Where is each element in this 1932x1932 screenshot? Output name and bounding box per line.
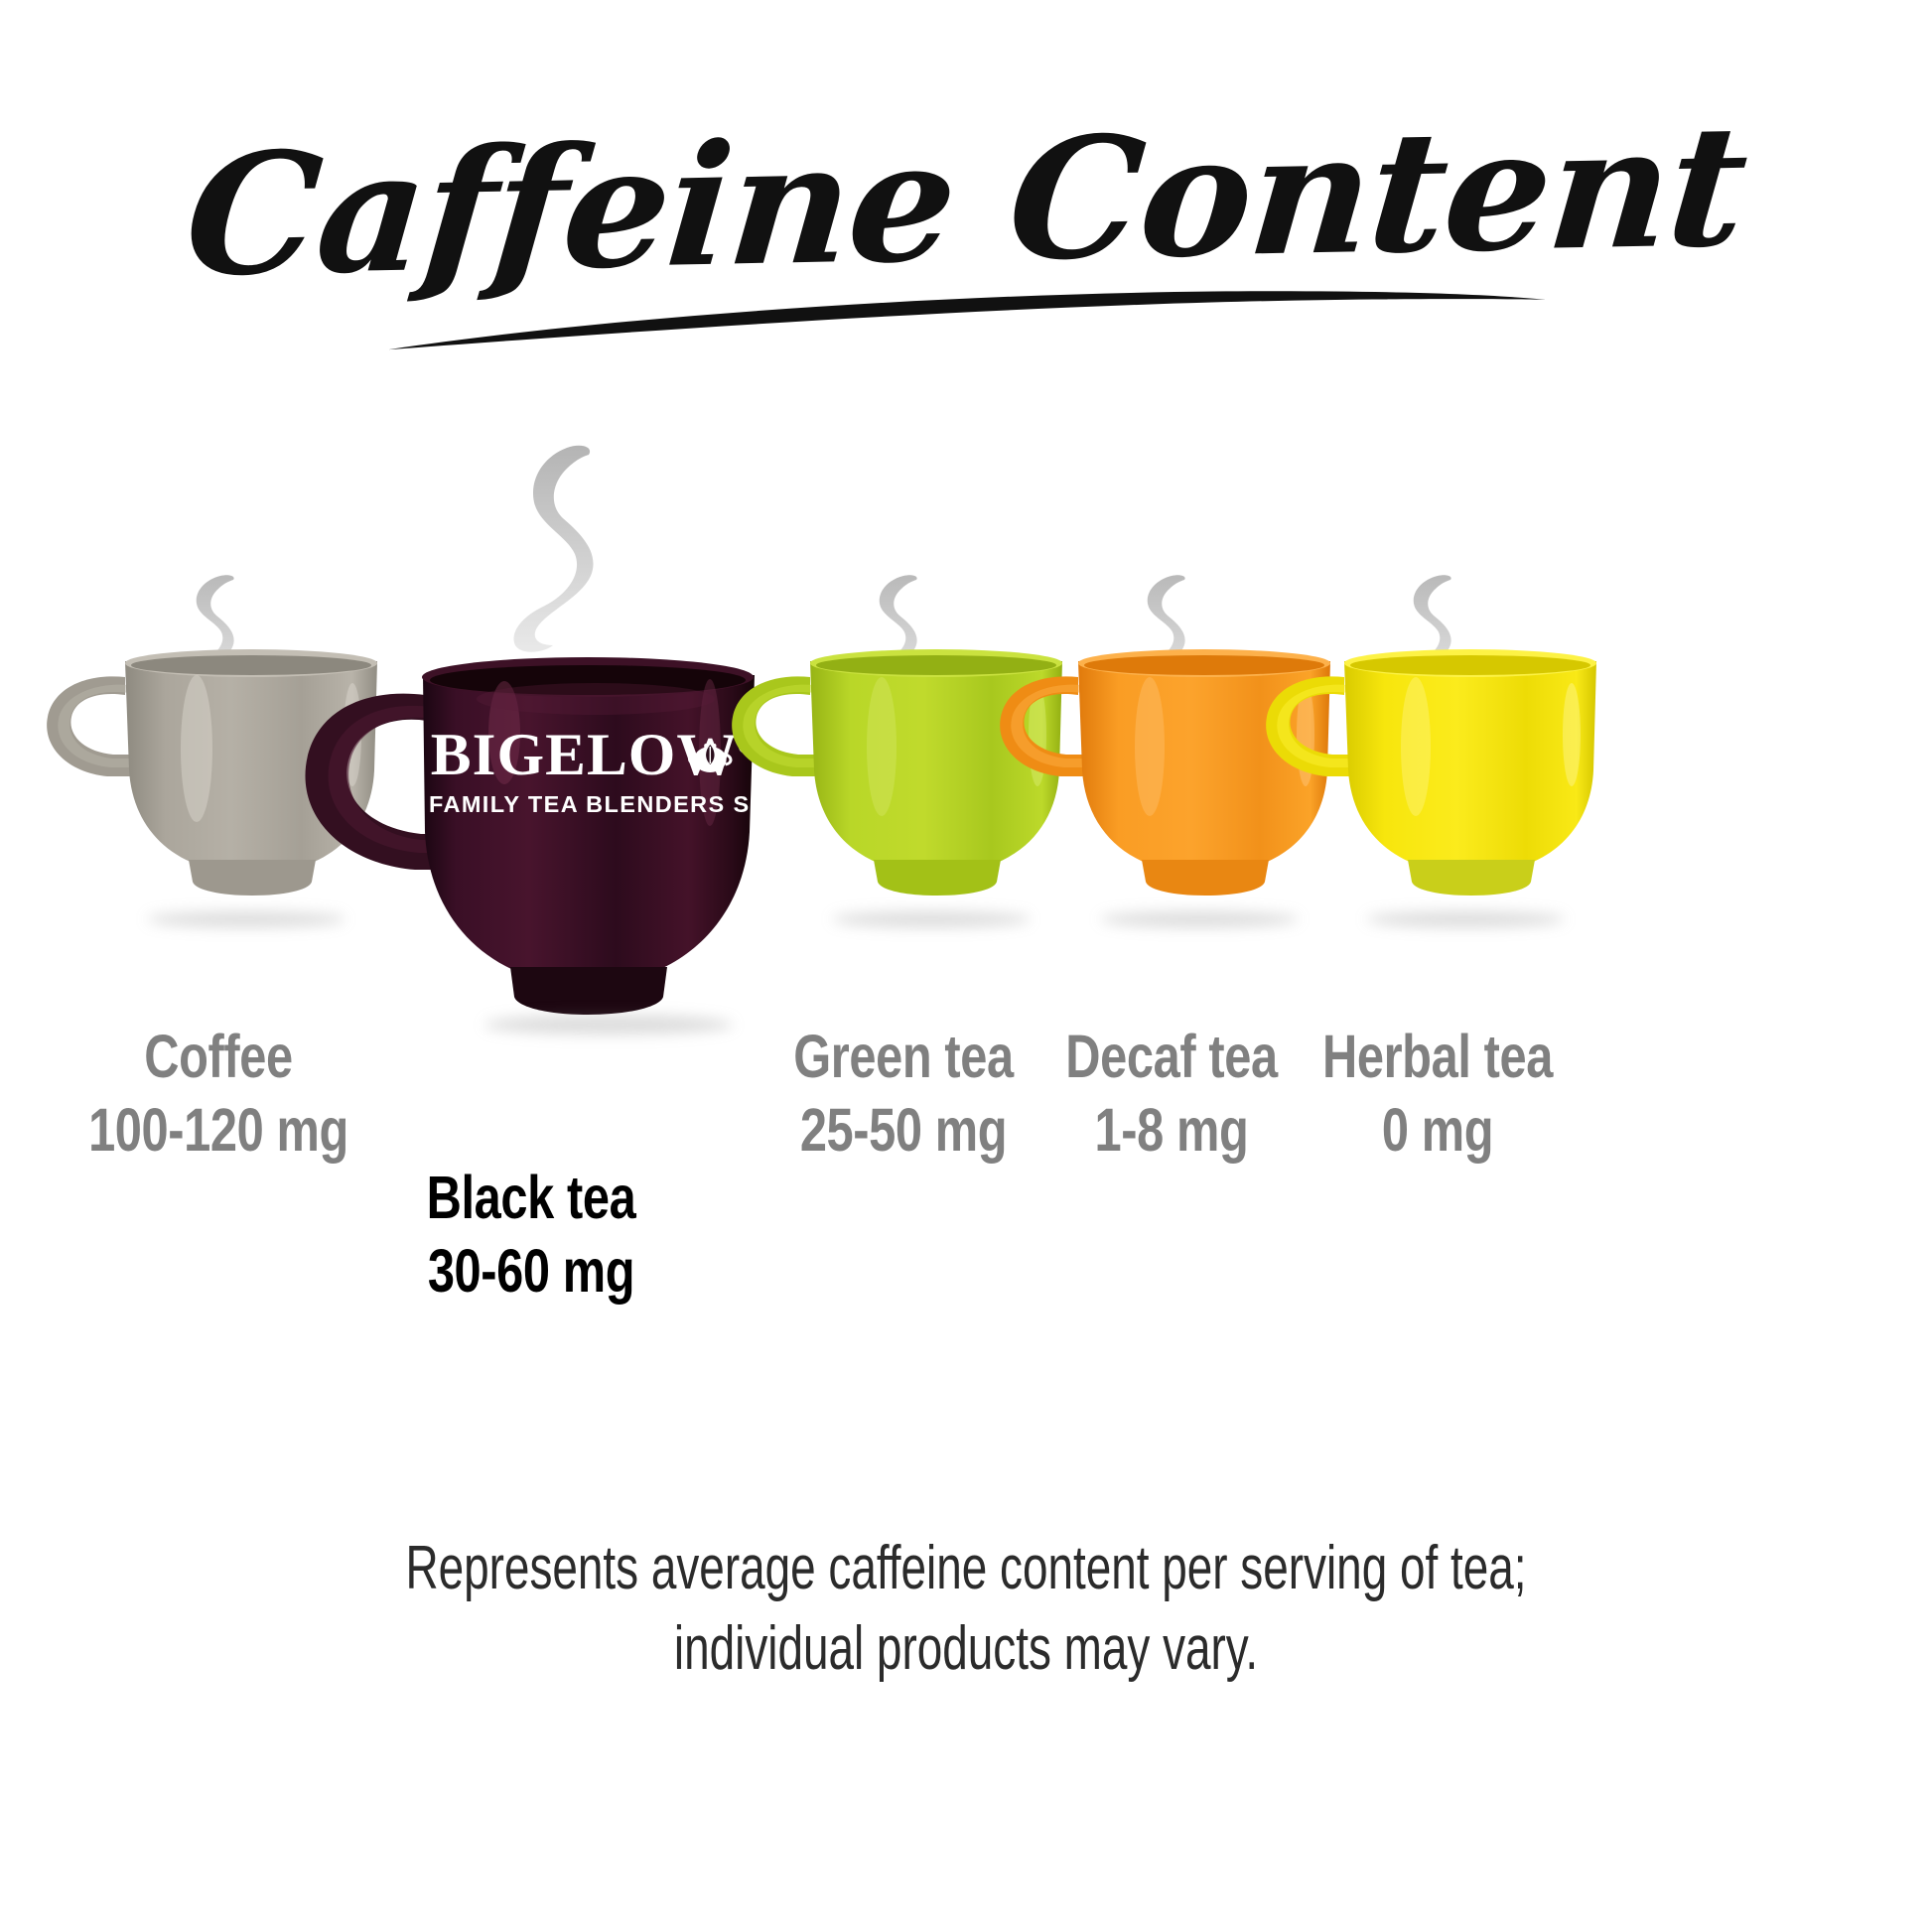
herbal-tea-cup [1249,639,1626,927]
bigelow-logo: BIGELOW® FAMILY TEA BLENDERS SINCE 1945 [429,725,757,817]
footnote: Represents average caffeine content per … [251,1529,1681,1689]
beverage-name-decaf-tea: Decaf tea [1021,1023,1322,1090]
beverage-name-black-tea: Black tea [345,1164,718,1231]
beverage-name-herbal-tea: Herbal tea [1287,1023,1588,1090]
brand-wordmark: BIGELOW® [431,725,755,784]
brand-tagline: FAMILY TEA BLENDERS SINCE 1945 [429,793,757,817]
infographic-canvas: Caffeine Content [0,0,1932,1932]
black-tea-cup [298,643,764,1110]
steam-wisp-icon [501,445,630,653]
cup-shadow [484,1015,733,1035]
label-decaf-tea: Decaf tea 1-8 mg [1021,1023,1322,1165]
beverage-value-herbal-tea: 0 mg [1287,1096,1588,1164]
footnote-line-2: individual products may vary. [251,1609,1681,1690]
label-green-tea: Green tea 25-50 mg [753,1023,1054,1165]
beverage-item-herbal-tea[interactable] [1249,556,1626,1033]
cup-row: Coffee 100-120 mg [0,0,1932,1340]
footnote-line-1: Represents average caffeine content per … [251,1529,1681,1609]
beverage-name-green-tea: Green tea [753,1023,1054,1090]
label-herbal-tea: Herbal tea 0 mg [1287,1023,1588,1165]
label-black-tea: Black tea 30-60 mg [345,1164,718,1306]
cup-shadow [1366,911,1565,927]
beverage-value-decaf-tea: 1-8 mg [1021,1096,1322,1164]
beverage-item-black-tea[interactable]: BIGELOW® FAMILY TEA BLENDERS SINCE 1945 [298,437,764,1112]
beverage-value-green-tea: 25-50 mg [753,1096,1054,1164]
beverage-value-black-tea: 30-60 mg [345,1237,718,1305]
